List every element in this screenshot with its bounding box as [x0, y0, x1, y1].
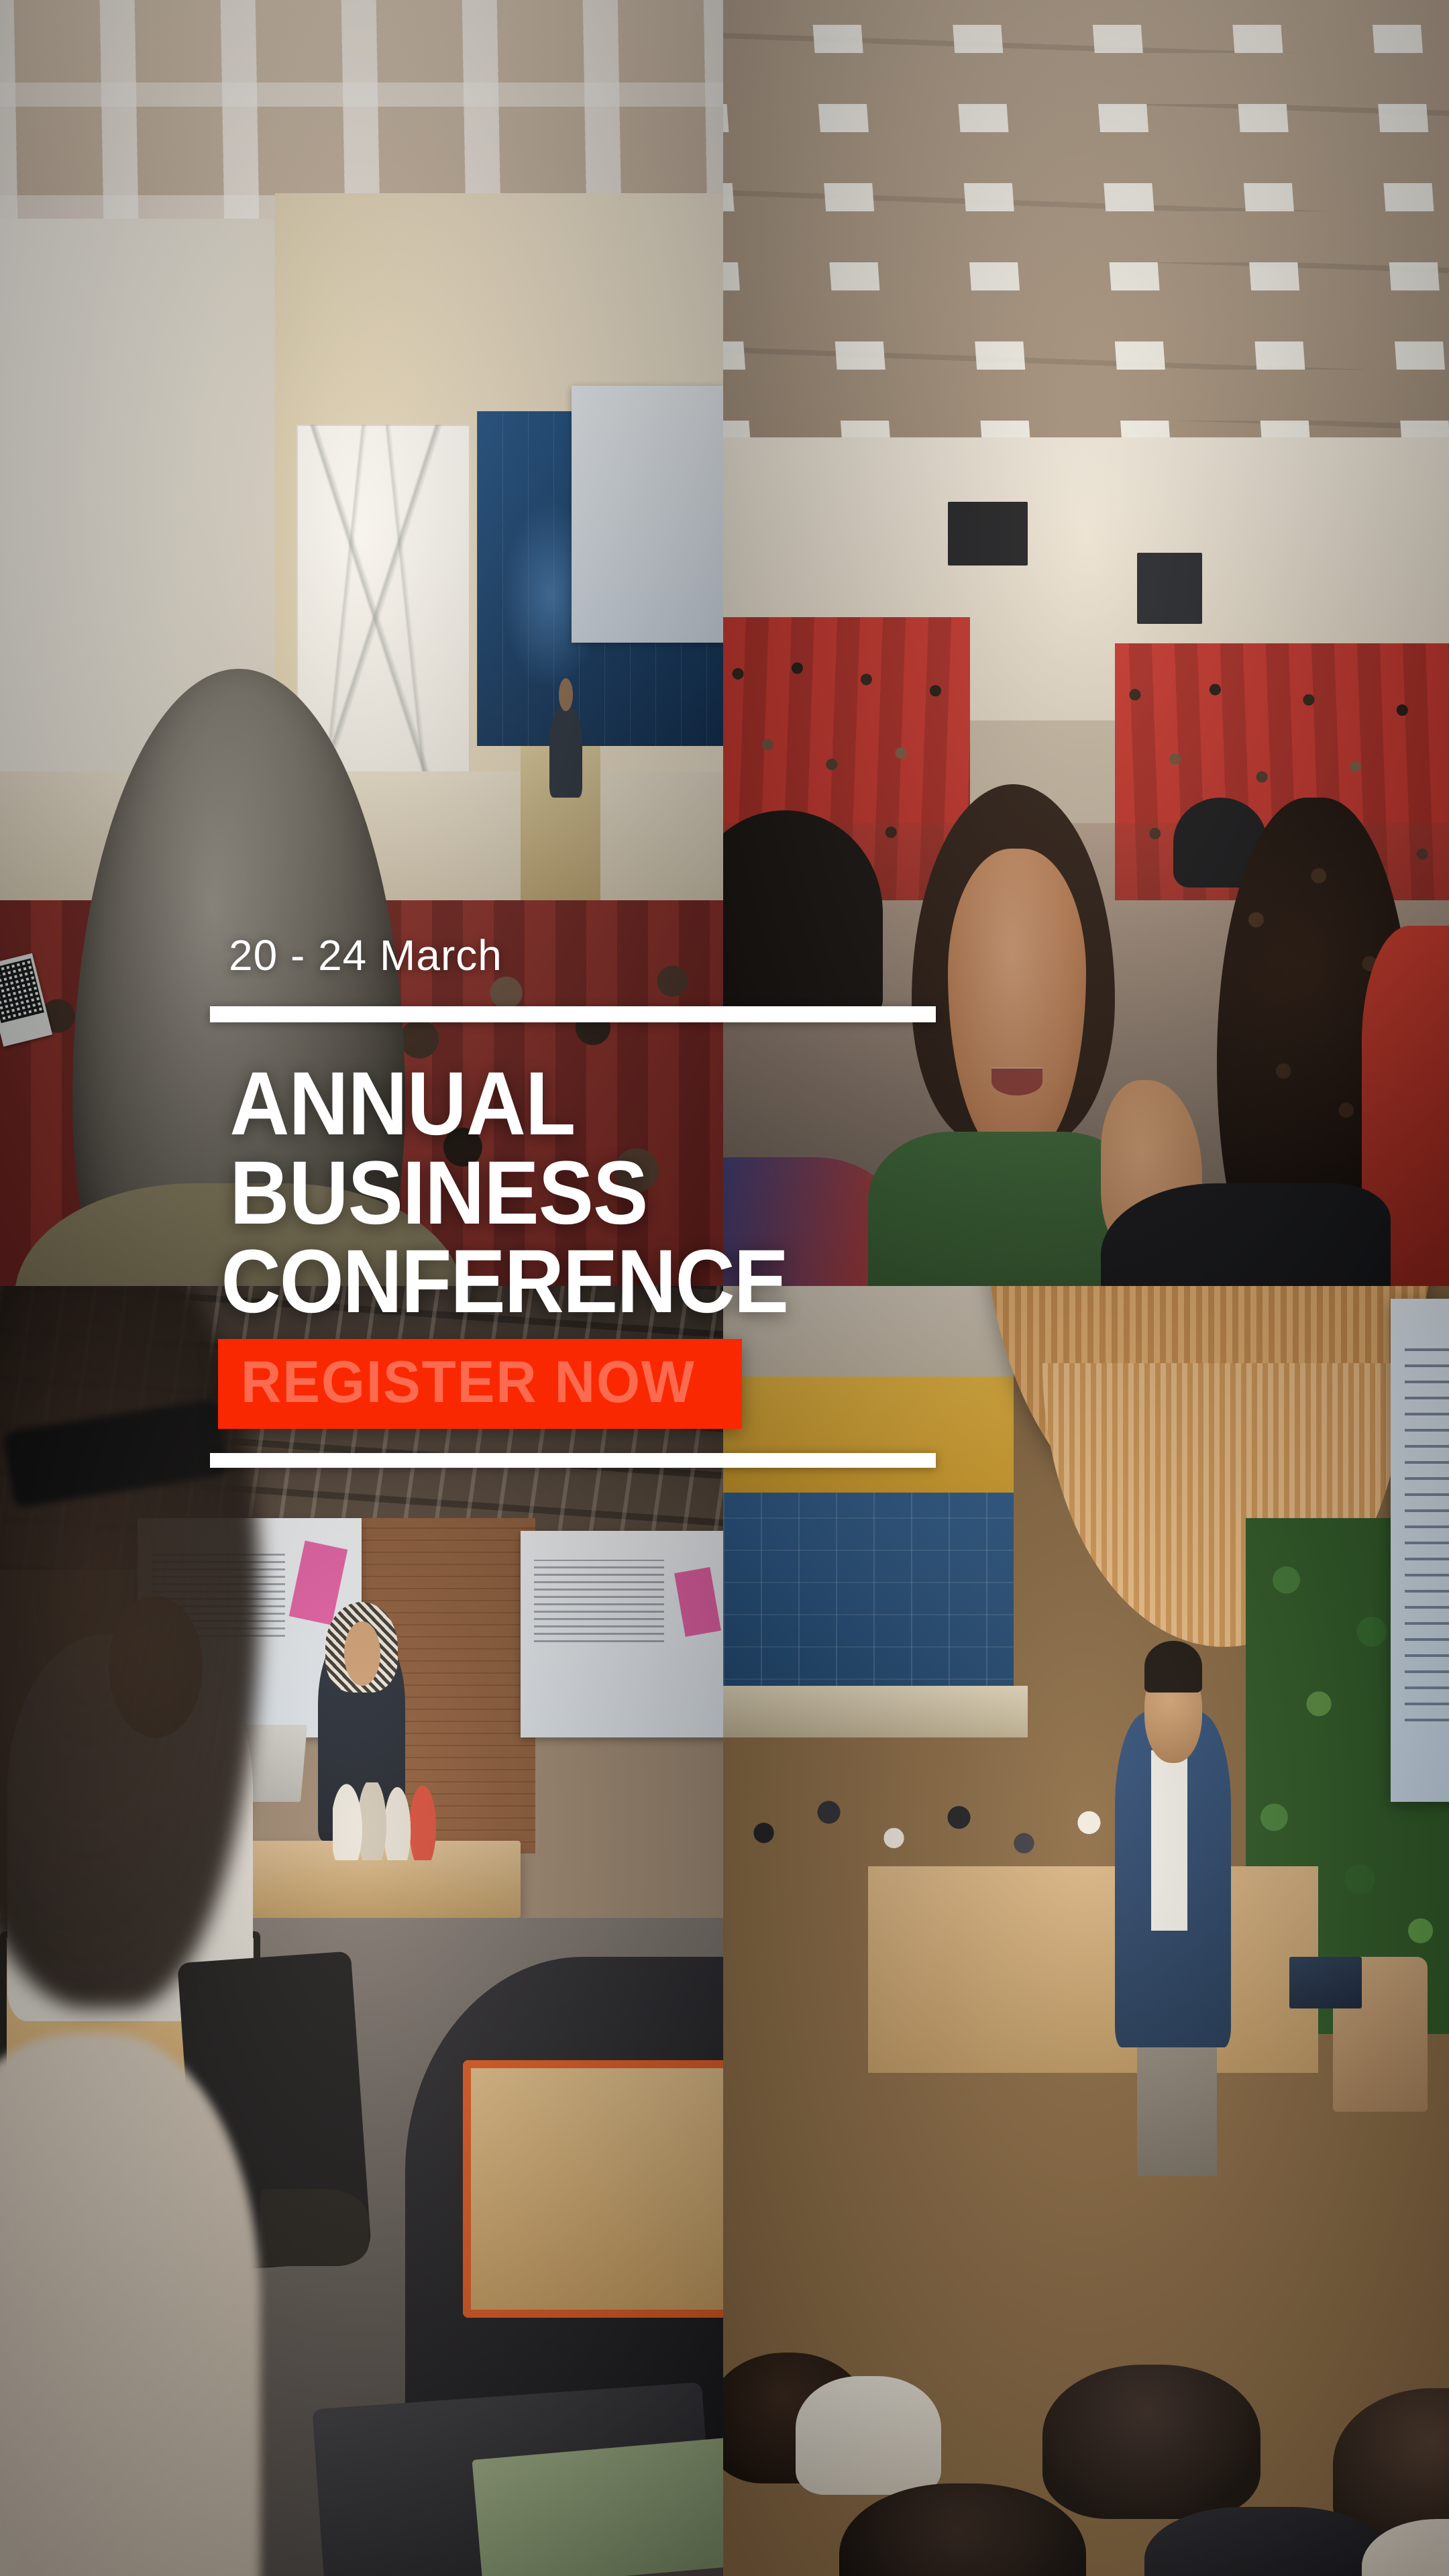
attendee-shoe — [260, 2189, 369, 2266]
woman-face — [948, 849, 1086, 1157]
foreground-audience — [723, 2008, 1449, 2576]
chair-right-orange — [463, 2060, 723, 2318]
audience-head-3 — [1042, 2365, 1260, 2519]
wall-monitor-right — [1137, 553, 1202, 623]
presentation-screen — [1391, 1299, 1449, 1802]
audience-head-2 — [796, 2376, 941, 2495]
conference-poster: 20 - 24 March ANNUAL BUSINESS CONFERENCE… — [0, 0, 1449, 2576]
speaker-shirt — [1151, 1750, 1187, 1931]
photo-audience-applauding-woman-green-shirt — [723, 0, 1449, 1286]
tablet-on-stool — [1289, 1957, 1362, 2008]
photo-workshop-speaker-presentation — [0, 1286, 723, 2576]
speaker-hair — [1144, 1641, 1203, 1693]
stage-speaker — [549, 707, 582, 797]
wall-monitor-left — [948, 502, 1028, 566]
photo-corporate-event-speaker-blue-suit — [723, 1286, 1449, 2576]
register-now-button[interactable]: REGISTER NOW — [218, 1339, 742, 1429]
cups-and-condiments — [333, 1782, 448, 1860]
glass-facade — [723, 1493, 1014, 1712]
photo-auditorium-plenary-session — [0, 0, 723, 1286]
register-now-button-label: REGISTER NOW — [241, 1352, 696, 1411]
folded-black-jacket — [1101, 1183, 1391, 1286]
photo-collage-grid — [0, 0, 1449, 2576]
projection-screen — [572, 386, 723, 643]
workshop-speaker-face — [344, 1621, 380, 1686]
upper-wall — [723, 1286, 1014, 1389]
gold-brand-band — [723, 1377, 1014, 1493]
audience-head-5 — [839, 2483, 1086, 2576]
